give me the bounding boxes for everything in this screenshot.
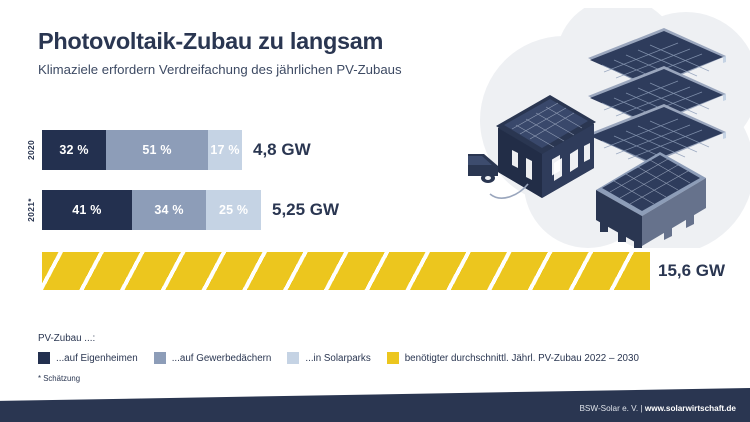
- legend-item-solarparks: ...in Solarparks: [287, 352, 370, 364]
- chart-row-2021: 2021* 41 % 34 % 25 % 5,25 GW: [0, 190, 750, 236]
- legend-item-target: benötigter durchschnittl. Jährl. PV-Zuba…: [387, 352, 639, 364]
- chart-row-2020: 2020 32 % 51 % 17 % 4,8 GW: [0, 130, 750, 176]
- year-label-2021-text: 2021*: [26, 198, 36, 222]
- legend-swatch-eigenheime: [38, 352, 50, 364]
- legend-item-gewerbedaecher: ...auf Gewerbedächern: [154, 352, 272, 364]
- stacked-bar-2021: 41 % 34 % 25 %: [42, 190, 261, 230]
- legend-label-target: benötigter durchschnittl. Jährl. PV-Zuba…: [405, 353, 639, 364]
- bar-total-target: 15,6 GW: [658, 252, 725, 290]
- legend-swatch-target: [387, 352, 399, 364]
- bar-total-2021: 5,25 GW: [272, 190, 339, 230]
- bar-segment-gewerbedaecher-2021: 34 %: [132, 190, 206, 230]
- footer-source: BSW-Solar e. V. |: [579, 404, 644, 413]
- legend-title: PV-Zubau ...:: [38, 333, 655, 344]
- year-label-2020-text: 2020: [26, 140, 36, 160]
- solar-park-row: [588, 28, 726, 91]
- bar-segment-gewerbedaecher-2020: 51 %: [106, 130, 208, 170]
- solar-park-row: [588, 66, 726, 129]
- bar-segment-solarparks-2021: 25 %: [206, 190, 261, 230]
- stacked-bar-2020: 32 % 51 % 17 %: [42, 130, 242, 170]
- header: Photovoltaik-Zubau zu langsam Klimaziele…: [38, 28, 402, 77]
- bar-total-2020: 4,8 GW: [253, 130, 311, 170]
- legend-item-eigenheime: ...auf Eigenheimen: [38, 352, 138, 364]
- chart-row-target: 15,6 GW: [0, 252, 750, 294]
- footnote: * Schätzung: [38, 374, 80, 383]
- bar-segment-solarparks-2020: 17 %: [208, 130, 242, 170]
- footer: BSW-Solar e. V. | www.solarwirtschaft.de: [0, 388, 750, 422]
- legend-swatch-solarparks: [287, 352, 299, 364]
- bar-chart: 2020 32 % 51 % 17 % 4,8 GW 2021* 41 % 34…: [0, 130, 750, 294]
- page-title: Photovoltaik-Zubau zu langsam: [38, 28, 402, 55]
- bar-segment-eigenheime-2020: 32 %: [42, 130, 106, 170]
- legend-items: ...auf Eigenheimen ...auf Gewerbedächern…: [38, 352, 655, 364]
- legend: PV-Zubau ...: ...auf Eigenheimen ...auf …: [38, 333, 655, 364]
- page-subtitle: Klimaziele erfordern Verdreifachung des …: [38, 62, 402, 77]
- footer-website[interactable]: www.solarwirtschaft.de: [645, 404, 736, 413]
- bar-segment-eigenheime-2021: 41 %: [42, 190, 132, 230]
- target-striped-bar: [42, 252, 650, 290]
- legend-label-solarparks: ...in Solarparks: [305, 353, 370, 364]
- infographic-root: Photovoltaik-Zubau zu langsam Klimaziele…: [0, 0, 750, 422]
- year-label-2020: 2020: [24, 130, 38, 170]
- legend-label-gewerbedaecher: ...auf Gewerbedächern: [172, 353, 272, 364]
- legend-label-eigenheime: ...auf Eigenheimen: [56, 353, 138, 364]
- year-label-2021: 2021*: [24, 190, 38, 230]
- footer-attribution: BSW-Solar e. V. | www.solarwirtschaft.de: [579, 404, 736, 413]
- legend-swatch-gewerbedaecher: [154, 352, 166, 364]
